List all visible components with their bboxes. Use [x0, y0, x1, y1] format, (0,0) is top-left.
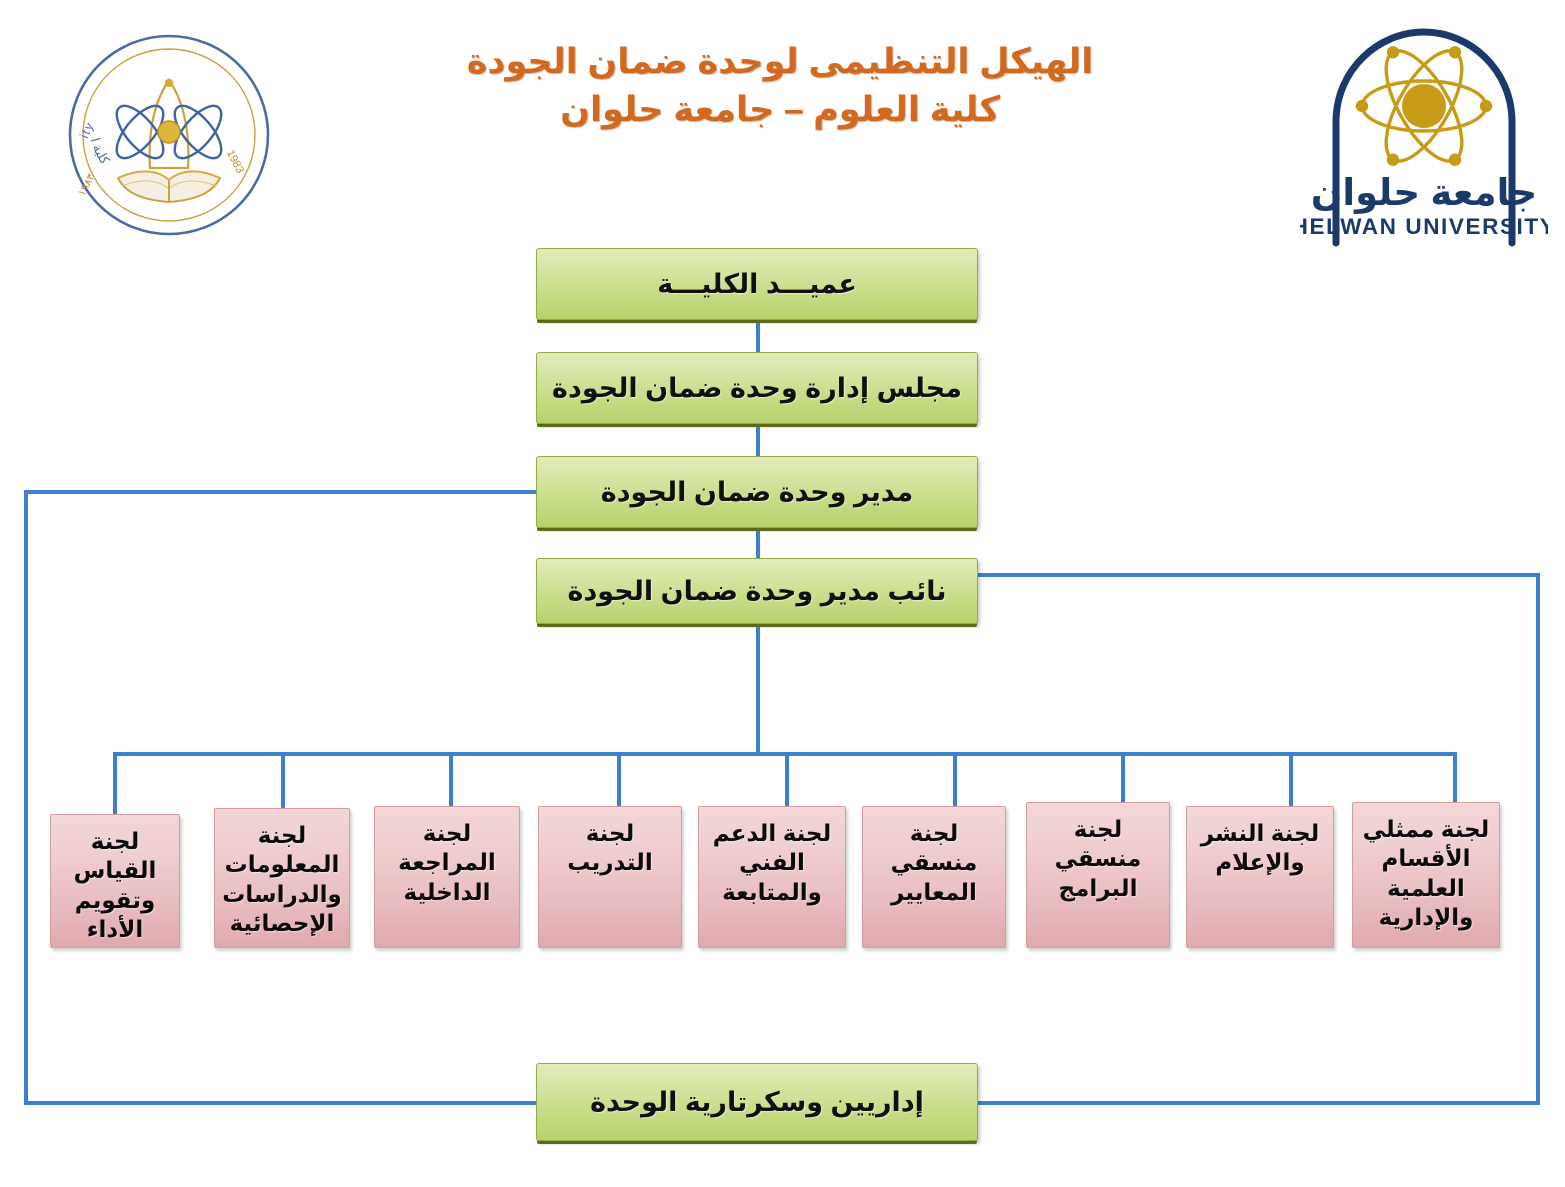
connector-stem-3: [449, 752, 453, 814]
node-quality-director-label: مدير وحدة ضمان الجودة: [591, 476, 923, 508]
page-title: الهيكل التنظيمى لوحدة ضمان الجودة كلية ا…: [330, 38, 1230, 135]
committee-training[interactable]: لجنة التدريب: [538, 806, 682, 948]
helwan-logo-arabic-text: جامعة حلوان: [1311, 172, 1537, 214]
committee-label-4: لجنة التدريب: [539, 807, 681, 878]
committee-label-3: لجنة المراجعة الداخلية: [375, 807, 519, 907]
connector-vice-right-horizontal: [972, 573, 1540, 577]
node-quality-vice-director[interactable]: نائب مدير وحدة ضمان الجودة: [536, 558, 978, 624]
connector-director-vice: [756, 526, 760, 558]
connector-stem-8: [1289, 752, 1293, 814]
committee-label-8: لجنة النشر والإعلام: [1187, 807, 1333, 878]
committee-publishing-media[interactable]: لجنة النشر والإعلام: [1186, 806, 1334, 948]
committee-technical-support-followup[interactable]: لجنة الدعم الفني والمتابعة: [698, 806, 846, 948]
committee-department-representatives[interactable]: لجنة ممثلي الأقسام العلمية والإدارية: [1352, 802, 1500, 948]
node-dean-label: عميـــد الكليـــة: [647, 268, 867, 300]
committee-label-1: لجنة القياس وتقويم الأداء: [51, 815, 179, 945]
committee-label-2: لجنة المعلومات والدراسات الإحصائية: [215, 809, 349, 939]
page-title-line-1: الهيكل التنظيمى لوحدة ضمان الجودة: [330, 38, 1230, 86]
helwan-logo-english-text: HELWAN UNIVERSITY: [1300, 214, 1548, 239]
connector-director-left-horizontal: [24, 490, 536, 494]
org-chart-canvas: Faculty Of Science Helwan University كلي…: [0, 0, 1565, 1187]
committee-label-9: لجنة ممثلي الأقسام العلمية والإدارية: [1353, 803, 1499, 933]
node-administrators-secretariat-label: إداريين وسكرتارية الوحدة: [580, 1086, 934, 1118]
committee-program-coordinators[interactable]: لجنة منسقي البرامج: [1026, 802, 1170, 948]
committee-standards-coordinators[interactable]: لجنة منسقي المعايير: [862, 806, 1006, 948]
helwan-university-logo: جامعة حلوان HELWAN UNIVERSITY: [1300, 18, 1548, 253]
committee-label-7: لجنة منسقي البرامج: [1027, 803, 1169, 903]
committee-information-statistics[interactable]: لجنة المعلومات والدراسات الإحصائية: [214, 808, 350, 948]
committee-label-5: لجنة الدعم الفني والمتابعة: [699, 807, 845, 907]
page-title-line-2: كلية العلوم – جامعة حلوان: [330, 86, 1230, 134]
node-dean[interactable]: عميـــد الكليـــة: [536, 248, 978, 320]
connector-left-vertical: [24, 490, 28, 1105]
connector-board-director: [756, 422, 760, 456]
committee-internal-audit[interactable]: لجنة المراجعة الداخلية: [374, 806, 520, 948]
node-quality-director[interactable]: مدير وحدة ضمان الجودة: [536, 456, 978, 528]
faculty-of-science-logo: Faculty Of Science Helwan University كلي…: [62, 28, 277, 243]
node-quality-vice-director-label: نائب مدير وحدة ضمان الجودة: [558, 575, 957, 607]
node-quality-board-label: مجلس إدارة وحدة ضمان الجودة: [542, 372, 972, 404]
connector-dean-board: [756, 318, 760, 352]
node-quality-board[interactable]: مجلس إدارة وحدة ضمان الجودة: [536, 352, 978, 424]
connector-right-to-secretariat: [972, 1101, 1540, 1105]
connector-left-to-secretariat: [24, 1101, 540, 1105]
connector-stem-1: [113, 752, 117, 814]
connector-stem-5: [785, 752, 789, 814]
connector-vice-bus: [756, 622, 760, 754]
connector-stem-6: [953, 752, 957, 814]
connector-stem-4: [617, 752, 621, 814]
connector-right-vertical: [1536, 573, 1540, 1105]
node-administrators-secretariat[interactable]: إداريين وسكرتارية الوحدة: [536, 1063, 978, 1141]
committee-label-6: لجنة منسقي المعايير: [863, 807, 1005, 907]
connector-stem-2: [281, 752, 285, 814]
committee-measurement-performance[interactable]: لجنة القياس وتقويم الأداء: [50, 814, 180, 948]
